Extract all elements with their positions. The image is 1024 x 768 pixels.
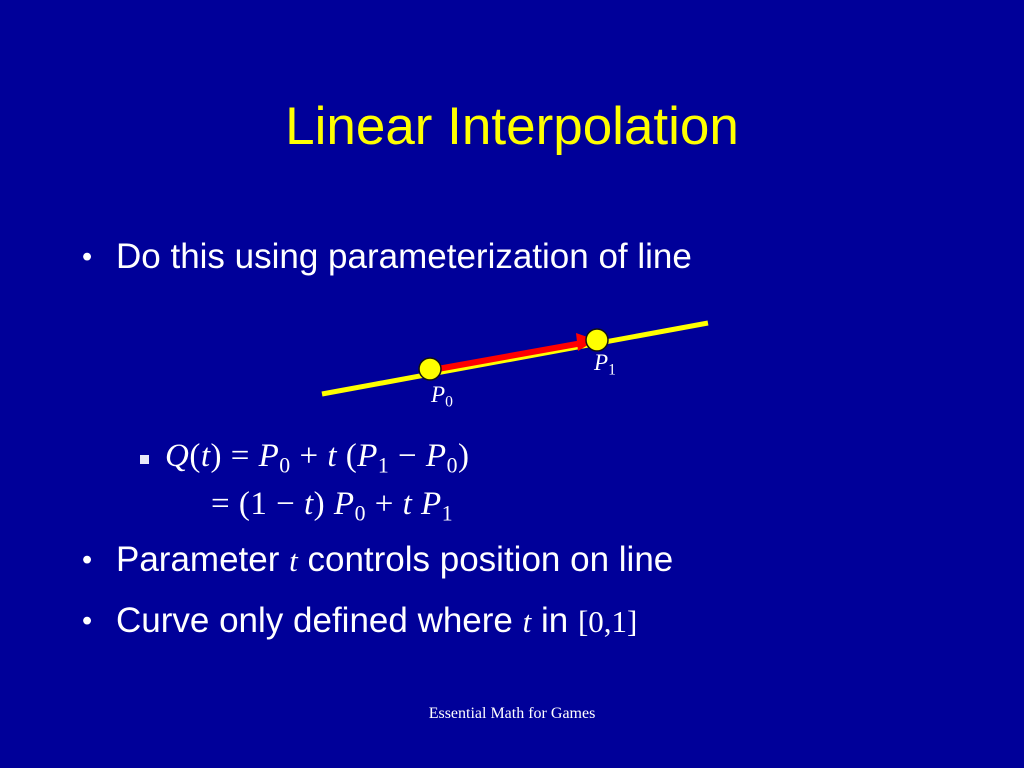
eq1-close-eq: ) = bbox=[211, 438, 259, 474]
bullet-3-var-t: t bbox=[523, 604, 532, 639]
eq2-p1-base: P bbox=[421, 486, 442, 522]
bullet-marker-icon: • bbox=[82, 236, 116, 278]
bullet-marker-icon: • bbox=[82, 539, 116, 581]
eq1-p0b-sub: 0 bbox=[447, 454, 458, 478]
bullet-2-prefix: Parameter bbox=[116, 540, 289, 579]
eq1-open: ( bbox=[189, 438, 201, 474]
square-bullet-icon bbox=[140, 455, 149, 464]
bullet-3-range: [0,1] bbox=[578, 604, 637, 639]
p0-sub: 0 bbox=[445, 394, 453, 411]
eq2-p1-sub: 1 bbox=[442, 502, 453, 526]
slide-canvas: Linear Interpolation •Do this using para… bbox=[0, 0, 1024, 768]
slide-footer: Essential Math for Games bbox=[0, 705, 1024, 723]
parameterized-line bbox=[322, 323, 708, 394]
eq2-p0-base: P bbox=[334, 486, 355, 522]
p1-sub: 1 bbox=[608, 362, 616, 379]
bullet-item-2: •Parameter t controls position on line bbox=[82, 539, 982, 582]
control-point-p0 bbox=[419, 358, 441, 380]
bullet-item-3-label: Curve only defined where t in [0,1] bbox=[116, 600, 637, 643]
equation-line-1-text: Q(t) = P0 + t (P1 − P0) bbox=[165, 438, 469, 474]
bullet-3-prefix: Curve only defined where bbox=[116, 601, 523, 640]
eq1-p1-sub: 1 bbox=[378, 454, 389, 478]
eq1-t2: t bbox=[327, 438, 337, 474]
eq1-p0b-base: P bbox=[426, 438, 447, 474]
control-point-p0-label: P0 bbox=[431, 382, 453, 412]
eq2-t2: t bbox=[403, 486, 413, 522]
equation-line-2: = (1 − t) P0 + t P1 bbox=[140, 480, 469, 528]
eq1-paren-open: ( bbox=[337, 438, 357, 474]
direction-vector-arrow bbox=[432, 342, 588, 370]
eq2-t: t bbox=[304, 486, 314, 522]
eq2-one: 1 bbox=[250, 486, 267, 522]
eq1-minus: − bbox=[389, 438, 426, 474]
bullet-2-suffix: controls position on line bbox=[298, 540, 674, 579]
eq2-space bbox=[412, 486, 421, 522]
equation-block: Q(t) = P0 + t (P1 − P0) = (1 − t) P0 + t… bbox=[140, 432, 469, 528]
eq1-q: Q bbox=[165, 438, 189, 474]
linear-interpolation-diagram: P0 P1 bbox=[300, 300, 740, 410]
control-point-p1 bbox=[586, 329, 608, 351]
eq1-p1-base: P bbox=[357, 438, 378, 474]
eq2-minus: − bbox=[267, 486, 304, 522]
eq1-p0-sub: 0 bbox=[279, 454, 290, 478]
bullet-2-var-t: t bbox=[289, 543, 298, 578]
eq2-eq: = ( bbox=[211, 486, 250, 522]
bullet-marker-icon: • bbox=[82, 600, 116, 642]
eq2-close: ) bbox=[314, 486, 334, 522]
eq2-p0-sub: 0 bbox=[355, 502, 366, 526]
bullet-item-2-label: Parameter t controls position on line bbox=[116, 539, 673, 582]
bullet-item-1: •Do this using parameterization of line bbox=[82, 236, 982, 278]
eq1-paren-close: ) bbox=[458, 438, 470, 474]
equation-line-2-text: = (1 − t) P0 + t P1 bbox=[211, 486, 453, 522]
eq1-plus: + bbox=[291, 438, 328, 474]
equation-line-1: Q(t) = P0 + t (P1 − P0) bbox=[140, 432, 469, 480]
p1-base: P bbox=[594, 350, 608, 375]
bullet-item-3: •Curve only defined where t in [0,1] bbox=[82, 600, 982, 643]
bullet-item-1-label: Do this using parameterization of line bbox=[116, 236, 692, 278]
page-title: Linear Interpolation bbox=[0, 96, 1024, 158]
eq1-p0-base: P bbox=[259, 438, 280, 474]
p0-base: P bbox=[431, 382, 445, 407]
eq1-t: t bbox=[201, 438, 211, 474]
bullet-3-mid: in bbox=[531, 601, 578, 640]
eq2-plus: + bbox=[366, 486, 403, 522]
diagram-svg bbox=[300, 300, 740, 410]
control-point-p1-label: P1 bbox=[594, 350, 616, 380]
